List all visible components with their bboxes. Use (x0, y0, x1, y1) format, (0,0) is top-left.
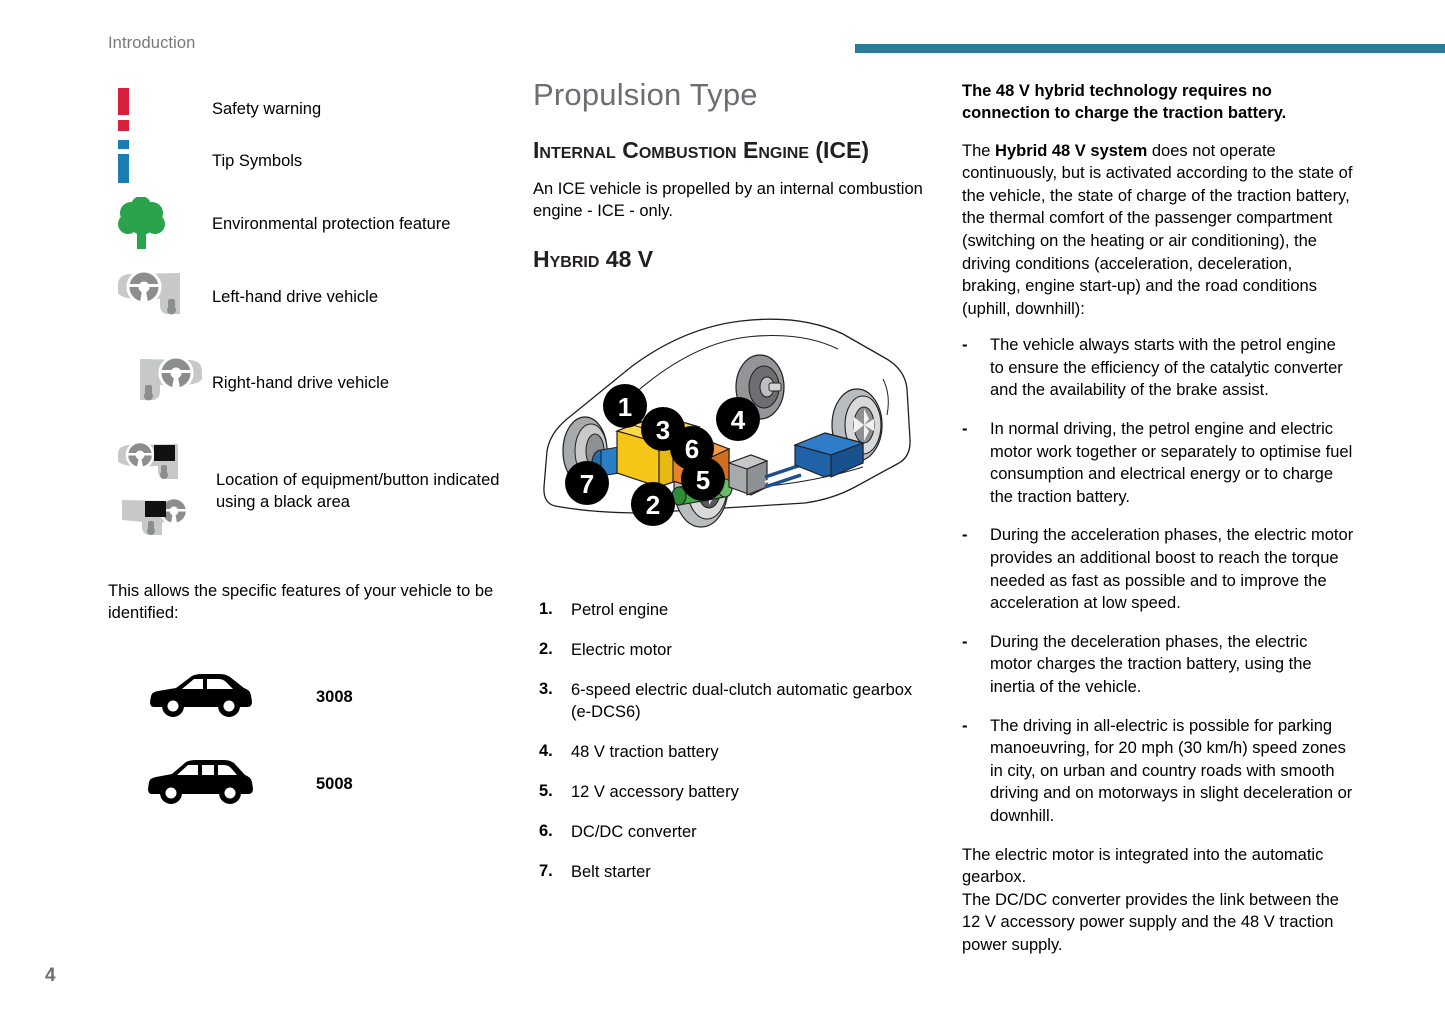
list-item: 5. 12 V accessory battery (533, 782, 923, 804)
list-item-label: 6-speed electric dual-clutch automatic g… (571, 680, 923, 724)
black-area-dashboard-icon (108, 440, 212, 544)
car-silhouette-3008-icon (108, 667, 284, 728)
legend-label: Right-hand drive vehicle (212, 373, 389, 395)
legend-column: Safety warning Tip Symbols (108, 78, 508, 815)
list-item: - During the deceleration phases, the el… (962, 631, 1354, 699)
black-area-lhd-icon (114, 440, 206, 488)
list-item: - In normal driving, the petrol engine a… (962, 418, 1354, 508)
list-item-label: Petrol engine (571, 600, 668, 622)
legend-row-right-hand-drive: Right-hand drive vehicle (108, 352, 508, 416)
powertrain-parts-list: 1. Petrol engine 2. Electric motor 3. 6-… (533, 600, 923, 884)
model-row-5008: 5008 (108, 754, 508, 815)
notes-intro-bold: The 48 V hybrid technology requires no c… (962, 80, 1354, 125)
black-area-rhd-icon (114, 496, 206, 544)
dash-bullet: - (962, 524, 990, 614)
notes-bullet-list: - The vehicle always starts with the pet… (962, 334, 1354, 827)
list-item: - The vehicle always starts with the pet… (962, 334, 1354, 402)
list-item: 4. 48 V traction battery (533, 742, 923, 764)
list-item-number: 3. (533, 680, 571, 724)
dcdc-converter-part (729, 455, 767, 495)
page-title: Propulsion Type (533, 78, 923, 112)
legend-label: Left-hand drive vehicle (212, 287, 378, 309)
svg-text:2: 2 (646, 490, 660, 520)
list-item-number: 1. (533, 600, 571, 622)
notes-column: The 48 V hybrid technology requires no c… (962, 80, 1354, 957)
list-item-number: 4. (533, 742, 571, 764)
list-item-label: 12 V accessory battery (571, 782, 739, 804)
notes-tail-paragraph-2: The DC/DC converter provides the link be… (962, 889, 1354, 957)
list-item-label: DC/DC converter (571, 822, 697, 844)
list-item: - During the acceleration phases, the el… (962, 524, 1354, 614)
model-row-3008: 3008 (108, 667, 508, 728)
right-hand-drive-dashboard-icon (108, 353, 212, 415)
page-section-label: Introduction (108, 34, 195, 53)
list-item-label: The vehicle always starts with the petro… (990, 334, 1354, 402)
legend-label: Location of equipment/button indicated u… (216, 470, 508, 514)
ice-description: An ICE vehicle is propelled by an intern… (533, 179, 923, 223)
information-i-icon (108, 140, 212, 184)
list-item-number: 2. (533, 640, 571, 662)
list-item: 1. Petrol engine (533, 600, 923, 622)
list-item-number: 7. (533, 862, 571, 884)
notes-main-paragraph: The Hybrid 48 V system does not operate … (962, 140, 1354, 321)
svg-text:5: 5 (696, 465, 710, 495)
header-rule (855, 44, 1445, 53)
svg-text:7: 7 (580, 469, 594, 499)
legend-row-tip-symbols: Tip Symbols (108, 138, 508, 186)
model-name: 5008 (316, 775, 353, 794)
page-number: 4 (45, 965, 56, 987)
list-item: - The driving in all-electric is possibl… (962, 715, 1354, 828)
list-item-label: During the deceleration phases, the elec… (990, 631, 1354, 699)
svg-text:3: 3 (656, 415, 670, 445)
propulsion-column: Propulsion Type Internal Combustion Engi… (533, 78, 923, 902)
dash-bullet: - (962, 334, 990, 402)
paragraph-post: does not operate continuously, but is ac… (962, 142, 1352, 318)
list-item-number: 5. (533, 782, 571, 804)
tree-icon (108, 197, 212, 253)
legend-row-black-area: Location of equipment/button indicated u… (108, 438, 508, 546)
notes-tail-paragraph-1: The electric motor is integrated into th… (962, 844, 1354, 889)
legend-label: Tip Symbols (212, 151, 302, 173)
legend-label: Environmental protection feature (212, 214, 450, 236)
list-item-label: During the acceleration phases, the elec… (990, 524, 1354, 614)
dash-bullet: - (962, 715, 990, 828)
model-name: 3008 (316, 688, 353, 707)
legend-row-environmental-protection: Environmental protection feature (108, 196, 508, 254)
left-hand-drive-dashboard-icon (108, 267, 212, 329)
heading-hybrid-48v: Hybrid 48 V (533, 245, 923, 274)
svg-text:4: 4 (731, 405, 746, 435)
manual-page: Introduction Safety warning Tip Symbols (0, 0, 1445, 1018)
legend-row-safety-warning: Safety warning (108, 86, 508, 134)
list-item-label: 48 V traction battery (571, 742, 719, 764)
dash-bullet: - (962, 631, 990, 699)
paragraph-pre: The (962, 142, 995, 160)
list-item-number: 6. (533, 822, 571, 844)
list-item-label: Electric motor (571, 640, 672, 662)
heading-internal-combustion-engine: Internal Combustion Engine (ICE) (533, 136, 923, 165)
dash-bullet: - (962, 418, 990, 508)
list-item: 3. 6-speed electric dual-clutch automati… (533, 680, 923, 724)
legend-label: Safety warning (212, 99, 321, 121)
list-item: 2. Electric motor (533, 640, 923, 662)
legend-row-left-hand-drive: Left-hand drive vehicle (108, 266, 508, 330)
svg-text:1: 1 (618, 392, 632, 422)
list-item-label: Belt starter (571, 862, 651, 884)
paragraph-bold: Hybrid 48 V system (995, 142, 1147, 160)
exclamation-mark-icon (108, 88, 212, 132)
car-silhouette-5008-icon (108, 754, 284, 815)
svg-text:6: 6 (685, 434, 699, 464)
legend-lead-text: This allows the specific features of you… (108, 580, 500, 625)
list-item-label: In normal driving, the petrol engine and… (990, 418, 1354, 508)
list-item: 6. DC/DC converter (533, 822, 923, 844)
list-item: 7. Belt starter (533, 862, 923, 884)
list-item-label: The driving in all-electric is possible … (990, 715, 1354, 828)
hybrid-48v-powertrain-diagram: 1 2 3 4 5 6 7 (533, 291, 923, 566)
